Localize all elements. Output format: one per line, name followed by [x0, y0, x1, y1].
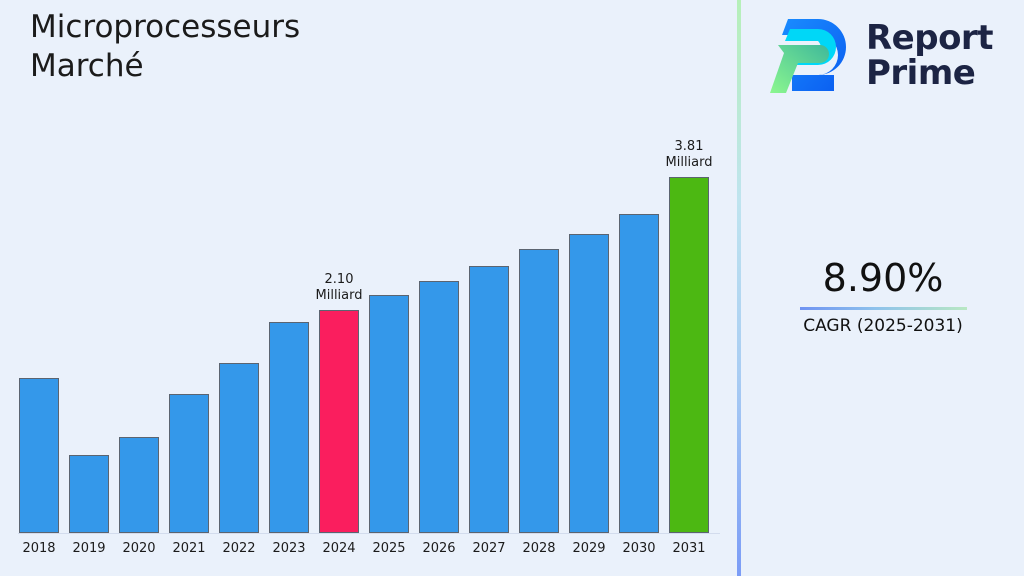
bar-2023: [269, 322, 309, 533]
cagr-caption: CAGR (2025-2031): [742, 315, 1024, 337]
bar-2031: [669, 177, 709, 533]
bar-value-label-2031: 3.81 Milliard: [639, 139, 739, 171]
chart-panel: Microprocesseurs Marché 2018201920202021…: [0, 0, 738, 576]
bar-2022: [219, 363, 259, 533]
x-tick-label-2031: 2031: [659, 540, 719, 558]
bar-2029: [569, 234, 609, 533]
bar-2024: [319, 310, 359, 533]
panel-divider: [737, 0, 741, 576]
brand-panel: Report Prime 8.90% CAGR (2025-2031): [742, 0, 1024, 576]
bar-chart-plot: 20182019202020212022202320242.10 Milliar…: [0, 0, 738, 576]
bar-2028: [519, 249, 559, 533]
bar-2019: [69, 455, 109, 533]
bar-2018: [19, 378, 59, 533]
chart-infographic: Microprocesseurs Marché 2018201920202021…: [0, 0, 1024, 576]
bar-2025: [369, 295, 409, 533]
bar-2020: [119, 437, 159, 533]
brand-name: Report Prime: [866, 21, 993, 91]
report-prime-logo-icon: [768, 15, 852, 97]
bar-2026: [419, 281, 459, 533]
axis-baseline: [18, 533, 720, 534]
brand-logo: Report Prime: [768, 10, 1008, 102]
bar-2030: [619, 214, 659, 533]
bar-2027: [469, 266, 509, 533]
cagr-divider-rule: [800, 307, 967, 310]
bar-2021: [169, 394, 209, 533]
cagr-value: 8.90%: [742, 255, 1024, 301]
cagr-block: 8.90% CAGR (2025-2031): [742, 255, 1024, 337]
